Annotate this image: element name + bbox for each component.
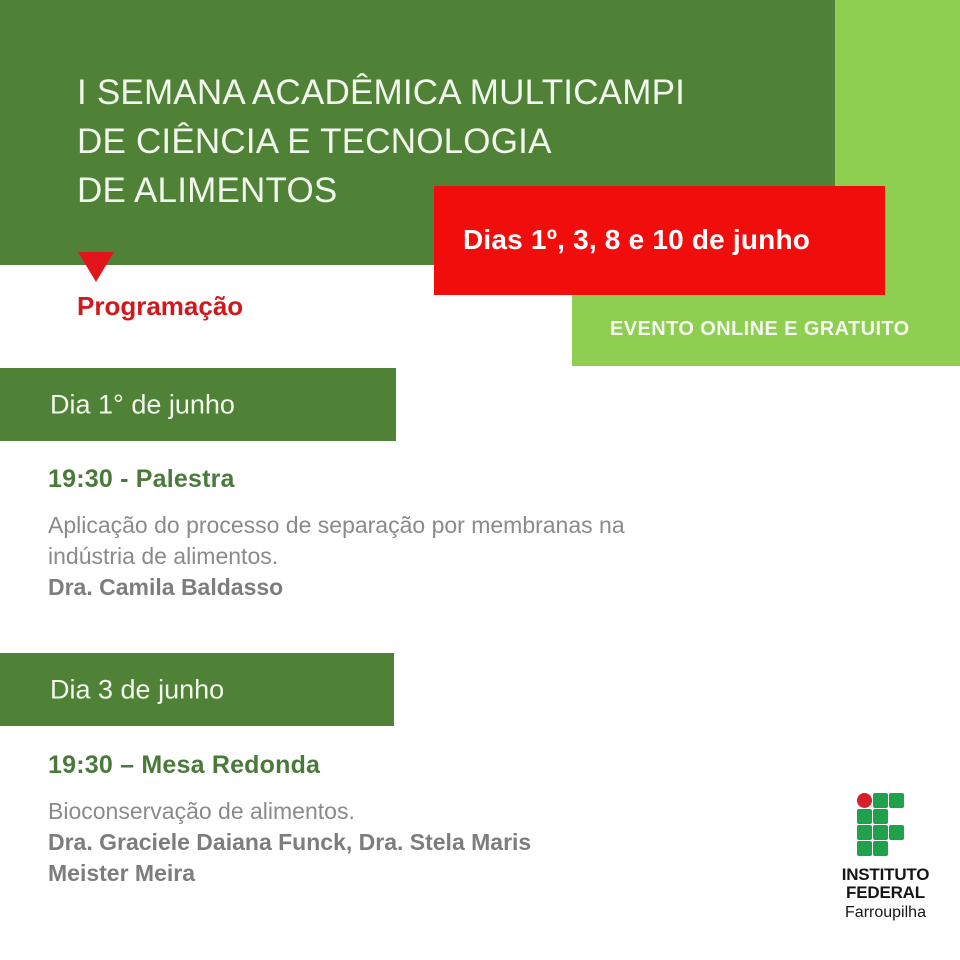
logo-square-cell [857, 809, 872, 824]
logo-square-cell [889, 793, 904, 808]
logo-square-cell [873, 809, 888, 824]
triangle-down-icon [78, 252, 114, 282]
online-badge-label: EVENTO ONLINE E GRATUITO [610, 318, 910, 341]
day-bar-2: Dia 3 de junho [0, 653, 394, 726]
logo-square-cell [889, 825, 904, 840]
section-label-programacao: Programação [77, 291, 243, 322]
logo-institution-name: INSTITUTO FEDERAL [833, 866, 938, 902]
session-2-description: Bioconservação de alimentos. [48, 796, 531, 827]
logo-square-cell [873, 793, 888, 808]
logo-square-cell [857, 825, 872, 840]
day-bar-2-label: Dia 3 de junho [50, 674, 224, 705]
logo-square-cell [873, 825, 888, 840]
dates-badge-label: Dias 1º, 3, 8 e 10 de junho [463, 224, 810, 256]
day-bar-1-label: Dia 1° de junho [50, 389, 235, 420]
instituto-federal-logo: INSTITUTO FEDERAL Farroupilha [833, 793, 938, 923]
logo-dot-cell [857, 793, 872, 808]
session-1-description: Aplicação do processo de separação por m… [48, 510, 625, 572]
logo-square-cell [857, 841, 872, 856]
session-1-heading: 19:30 - Palestra [48, 465, 625, 494]
event-poster: I SEMANA ACADÊMICA MULTICAMPI DE CIÊNCIA… [0, 0, 960, 960]
instituto-federal-grid-icon [857, 793, 915, 855]
session-2-heading: 19:30 – Mesa Redonda [48, 751, 531, 780]
logo-campus-name: Farroupilha [833, 903, 938, 923]
session-2-speakers: Dra. Graciele Daiana Funck, Dra. Stela M… [48, 827, 531, 889]
session-2: 19:30 – Mesa Redonda Bioconservação de a… [48, 751, 531, 889]
session-1: 19:30 - Palestra Aplicação do processo d… [48, 465, 625, 603]
session-1-speakers: Dra. Camila Baldasso [48, 572, 625, 603]
logo-square-cell [873, 841, 888, 856]
day-bar-1: Dia 1° de junho [0, 368, 396, 441]
